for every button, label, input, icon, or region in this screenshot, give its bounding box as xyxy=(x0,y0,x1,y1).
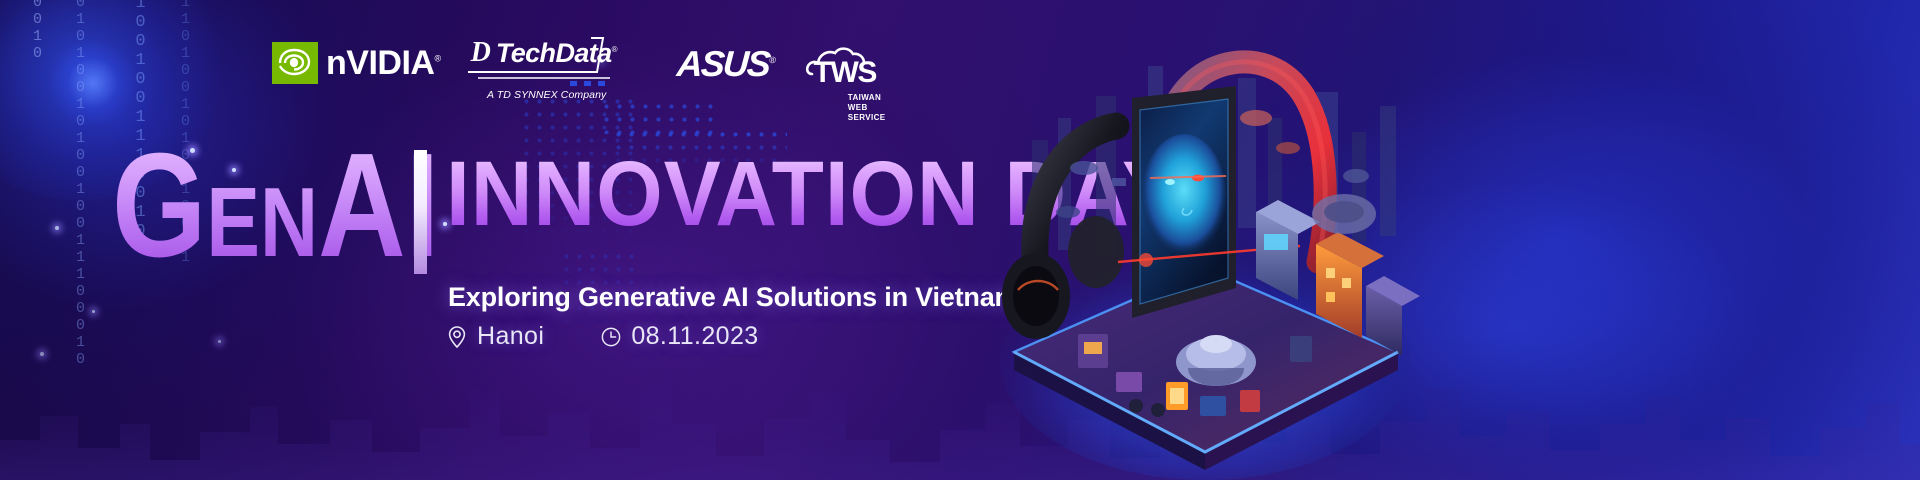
genai-letter-g: G xyxy=(112,123,206,288)
ai-face-portrait xyxy=(1142,134,1226,258)
event-banner: 0010 0101001010010011100010 100100111001… xyxy=(0,0,1920,480)
event-meta: Hanoi 08.11.2023 xyxy=(446,324,759,349)
event-location: Hanoi xyxy=(446,324,544,349)
location-label: Hanoi xyxy=(477,324,544,349)
ai-tech-city-illustration xyxy=(1000,0,1420,480)
date-label: 08.11.2023 xyxy=(631,324,758,349)
location-pin-icon xyxy=(446,325,468,349)
clock-icon xyxy=(600,325,622,349)
title-divider-bar xyxy=(414,150,427,274)
title-block: GENAI INNOVATION DAY Exploring Generativ… xyxy=(0,0,1100,480)
event-date: 08.11.2023 xyxy=(600,324,758,349)
page-subtitle: Exploring Generative AI Solutions in Vie… xyxy=(448,282,1018,313)
genai-logotype: GENAI xyxy=(112,142,439,269)
tablet-device xyxy=(1132,86,1236,318)
genai-letter-a: A xyxy=(318,123,406,288)
genai-letters-en: EN xyxy=(206,167,318,277)
laser-glow xyxy=(1139,253,1153,267)
